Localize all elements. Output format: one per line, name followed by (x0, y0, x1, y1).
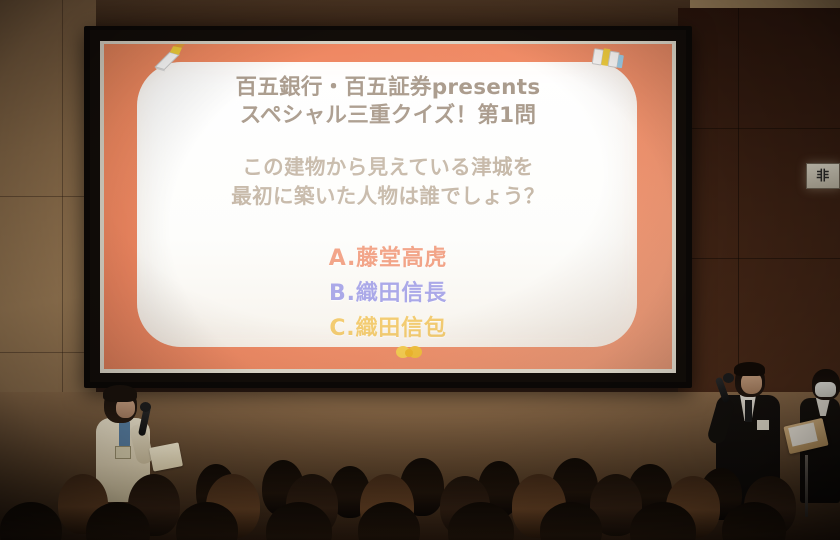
answer-option-c: C.織田信包 (104, 312, 672, 347)
slide-title-line-2: スペシャル三重クイズ！第1問 (104, 102, 672, 130)
emergency-exit-sign-label: 非 (816, 170, 830, 183)
slide-question-line-2: 最初に築いた人物は誰でしょう？ (104, 182, 672, 211)
slide-answer-list: A.藤堂高虎 B.織田信長 C.織田信包 (104, 242, 672, 346)
slide-question: この建物から見えている津城を 最初に築いた人物は誰でしょう？ (104, 153, 672, 211)
answer-option-a: A.藤堂高虎 (104, 242, 672, 277)
host-hair (103, 385, 137, 402)
projected-slide: 百五銀行・百五証券presents スペシャル三重クイズ！第1問 この建物から見… (104, 44, 672, 369)
mc-name-badge (757, 420, 769, 430)
audience-head (0, 502, 62, 540)
audience-rows (0, 440, 840, 540)
slide-title-line-1: 百五銀行・百五証券presents (104, 74, 672, 102)
mc-microphone-head (723, 373, 734, 383)
photo-scene: 非 (0, 0, 840, 540)
face-mask-icon (815, 382, 836, 397)
slide-title: 百五銀行・百五証券presents スペシャル三重クイズ！第1問 (104, 74, 672, 129)
host-microphone-head (140, 402, 151, 412)
mc-necktie (745, 400, 752, 422)
mc-hair (734, 362, 765, 376)
emergency-exit-sign: 非 (806, 163, 840, 189)
answer-option-b: B.織田信長 (104, 277, 672, 312)
slide-text-layer: 百五銀行・百五証券presents スペシャル三重クイズ！第1問 この建物から見… (104, 44, 672, 369)
slide-question-line-1: この建物から見えている津城を (104, 153, 672, 182)
